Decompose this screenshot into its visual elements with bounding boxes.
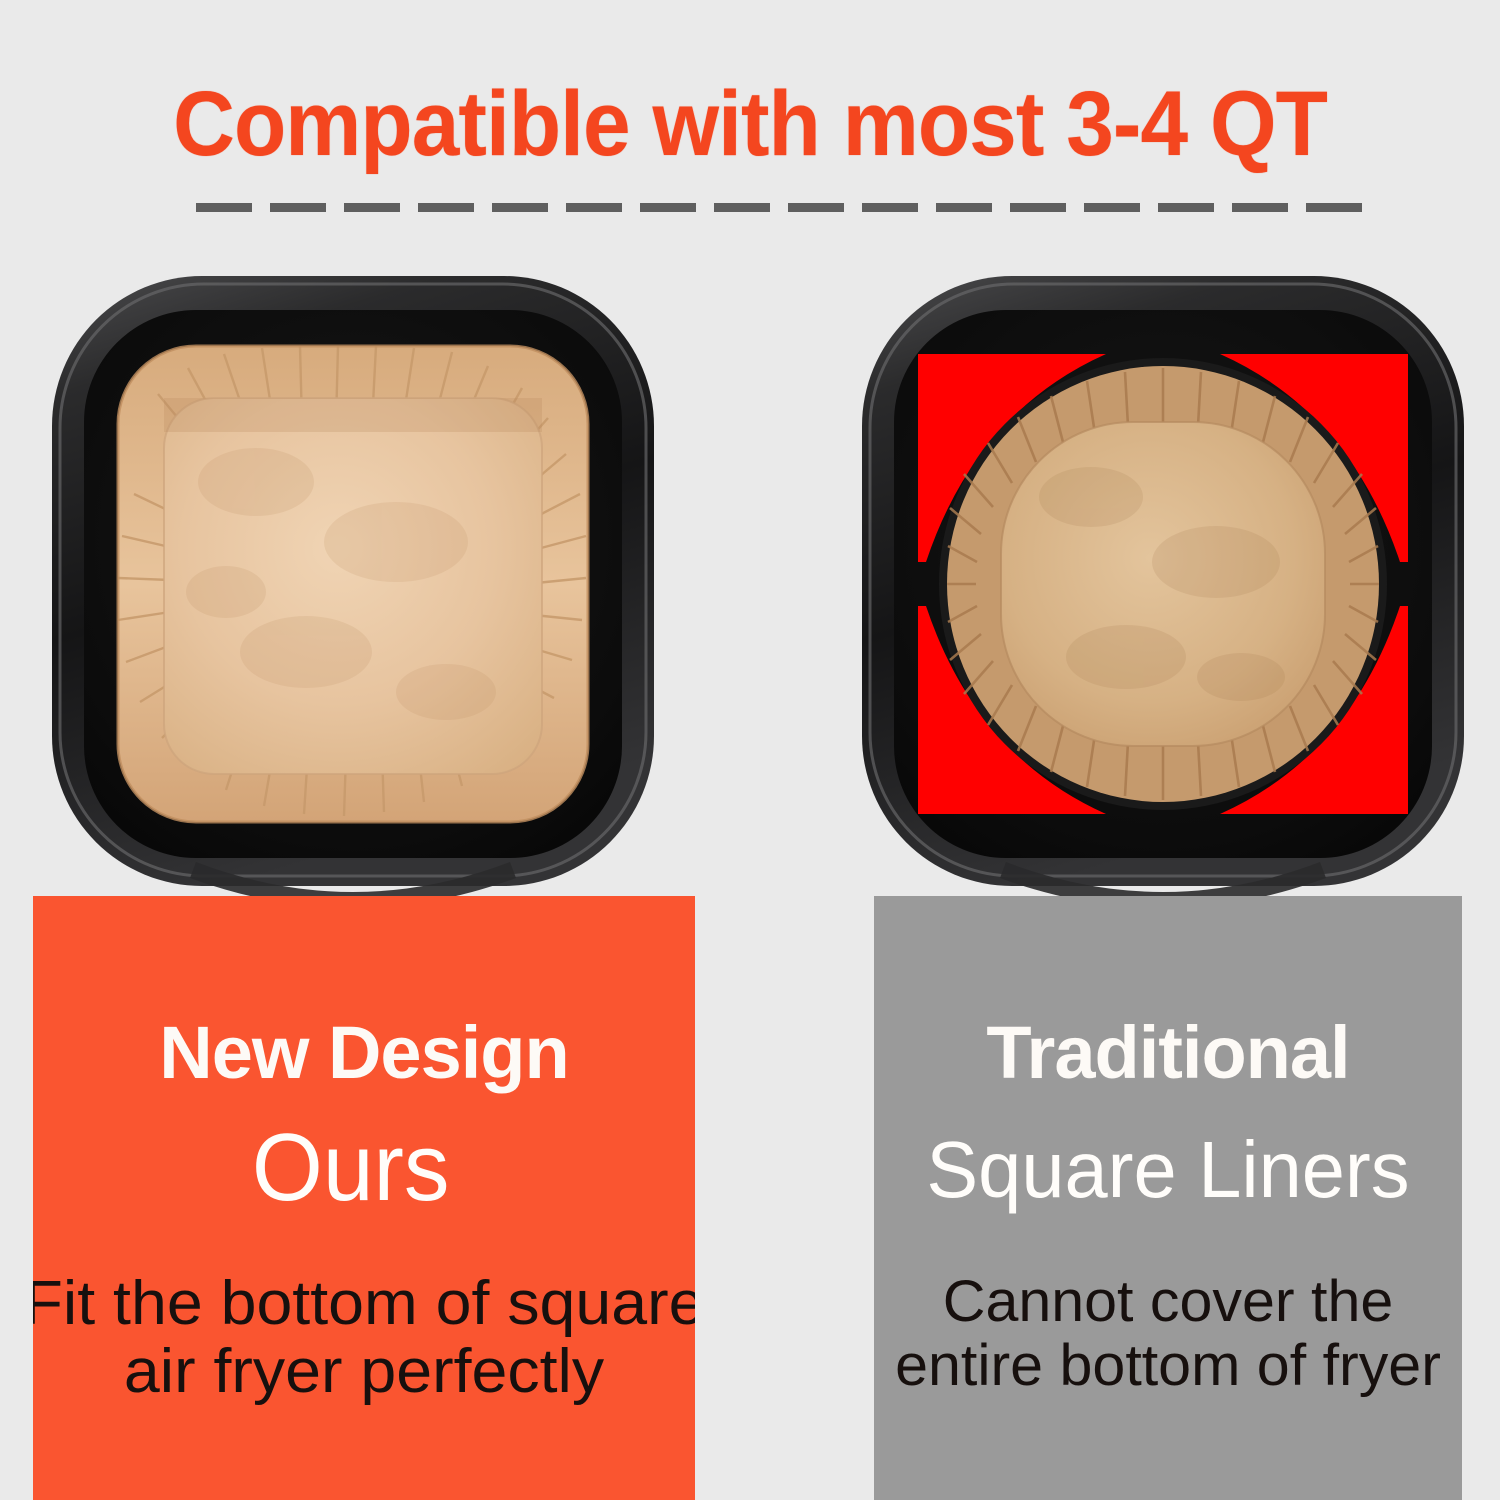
square-liner-illustration (46, 262, 660, 900)
card-subtitle-square-liners: Square Liners (883, 1122, 1453, 1218)
round-paper-liner (939, 358, 1387, 810)
comparison-card-new-design: New Design Ours Fit the bottom of square… (33, 896, 695, 1500)
comparison-card-traditional: Traditional Square Liners Cannot cover t… (874, 896, 1462, 1500)
product-photo-new-design (46, 262, 660, 900)
dashed-divider (196, 203, 1364, 212)
page-title: Compatible with most 3-4 QT (53, 74, 1448, 174)
card-kicker-traditional: Traditional (874, 1010, 1462, 1096)
liner-bottom (1001, 422, 1325, 746)
round-liner-illustration (856, 262, 1470, 900)
card-blurb-traditional: Cannot cover the entire bottom of fryer (874, 1270, 1462, 1398)
paper-liner (118, 346, 588, 822)
card-subtitle-ours: Ours (36, 1114, 665, 1222)
card-blurb-new-design: Fit the bottom of square air fryer perfe… (33, 1270, 695, 1406)
product-photo-traditional (856, 262, 1470, 900)
card-kicker-new-design: New Design (33, 1010, 695, 1096)
